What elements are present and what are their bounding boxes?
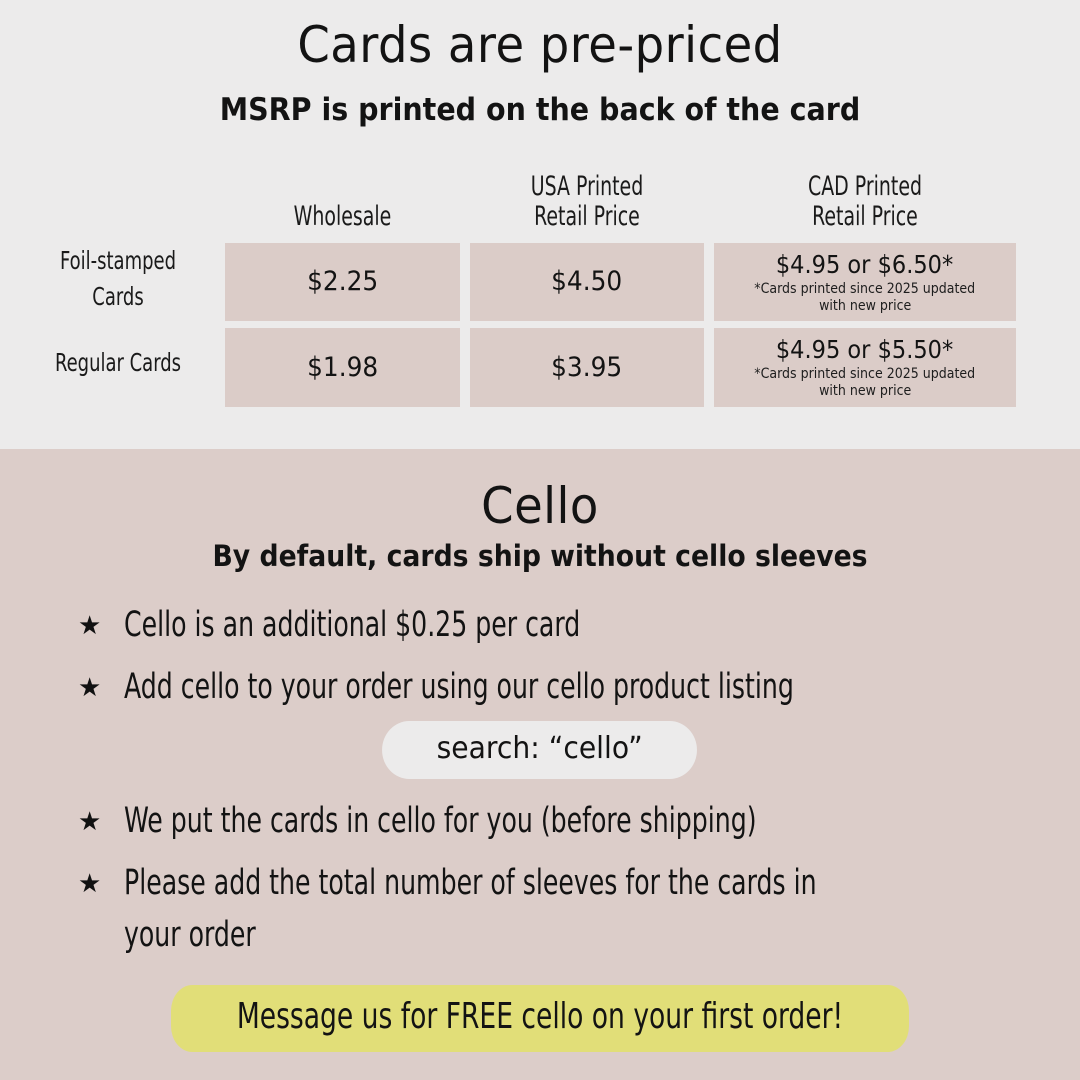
price-value: $4.50 bbox=[551, 266, 622, 298]
column-header-usa-retail: USA Printed Retail Price bbox=[496, 172, 679, 232]
row-label-regular-line1: Regular Cards bbox=[38, 345, 198, 381]
table-cell-regular-wholesale: $1.98 bbox=[225, 328, 460, 407]
page-title: Cards are pre-priced bbox=[38, 14, 1042, 76]
star-icon: ★ bbox=[78, 661, 124, 713]
star-icon: ★ bbox=[78, 599, 124, 651]
price-footnote-line2: with new price bbox=[819, 383, 911, 400]
table-cell-regular-cad-retail: $4.95 or $5.50* *Cards printed since 202… bbox=[714, 328, 1016, 407]
price-value: $4.95 or $6.50* bbox=[776, 250, 953, 280]
cta-container: Message us for FREE cello on your first … bbox=[0, 985, 1080, 1052]
cello-title: Cello bbox=[38, 475, 1042, 537]
row-label-regular-cards: Regular Cards bbox=[38, 345, 198, 381]
pricing-section: Cards are pre-priced MSRP is printed on … bbox=[0, 0, 1080, 449]
column-header-cad-retail: CAD Printed Retail Price bbox=[747, 172, 983, 232]
column-header-cad-line1: CAD Printed bbox=[747, 172, 983, 202]
star-icon: ★ bbox=[78, 857, 124, 909]
free-cello-cta-button[interactable]: Message us for FREE cello on your first … bbox=[171, 985, 909, 1052]
price-footnote-line1: *Cards printed since 2025 updated bbox=[755, 366, 976, 383]
row-label-foil-stamped-cards: Foil-stamped Cards bbox=[38, 243, 198, 315]
list-item-label: Add cello to your order using our cello … bbox=[124, 661, 839, 713]
price-value: $2.25 bbox=[307, 266, 378, 298]
page-subtitle: MSRP is printed on the back of the card bbox=[43, 88, 1037, 132]
cello-bullet-list: ★ Cello is an additional $0.25 per card … bbox=[78, 599, 1018, 971]
star-icon: ★ bbox=[78, 795, 124, 847]
column-header-usa-line2: Retail Price bbox=[496, 202, 679, 232]
price-value: $1.98 bbox=[307, 352, 378, 384]
price-footnote-line1: *Cards printed since 2025 updated bbox=[755, 281, 976, 298]
list-item: ★ We put the cards in cello for you (bef… bbox=[78, 795, 1018, 847]
column-header-wholesale-line1: Wholesale bbox=[251, 202, 434, 232]
list-item-label: Cello is an additional $0.25 per card bbox=[124, 599, 839, 651]
search-pill-container: search: “cello” bbox=[0, 721, 1080, 779]
column-header-cad-line2: Retail Price bbox=[747, 202, 983, 232]
cello-subtitle: By default, cards ship without cello sle… bbox=[43, 535, 1037, 577]
column-header-wholesale: Wholesale bbox=[251, 202, 434, 232]
list-item-label: We put the cards in cello for you (befor… bbox=[124, 795, 839, 847]
column-header-usa-line1: USA Printed bbox=[496, 172, 679, 202]
list-item: ★ Please add the total number of sleeves… bbox=[78, 857, 1018, 961]
infographic-page: Cards are pre-priced MSRP is printed on … bbox=[0, 0, 1080, 1080]
price-value: $3.95 bbox=[551, 352, 622, 384]
row-label-foil-line2: Cards bbox=[38, 279, 198, 315]
list-item-label: Please add the total number of sleeves f… bbox=[124, 857, 839, 961]
table-cell-foil-wholesale: $2.25 bbox=[225, 243, 460, 321]
table-cell-regular-usa-retail: $3.95 bbox=[470, 328, 704, 407]
search-hint-pill[interactable]: search: “cello” bbox=[382, 721, 697, 779]
row-label-foil-line1: Foil-stamped bbox=[38, 243, 198, 279]
list-item: ★ Add cello to your order using our cell… bbox=[78, 661, 1018, 713]
price-footnote-line2: with new price bbox=[819, 298, 911, 315]
table-cell-foil-cad-retail: $4.95 or $6.50* *Cards printed since 202… bbox=[714, 243, 1016, 321]
table-cell-foil-usa-retail: $4.50 bbox=[470, 243, 704, 321]
price-value: $4.95 or $5.50* bbox=[776, 335, 953, 365]
cello-section: Cello By default, cards ship without cel… bbox=[0, 449, 1080, 1080]
list-item: ★ Cello is an additional $0.25 per card bbox=[78, 599, 1018, 651]
